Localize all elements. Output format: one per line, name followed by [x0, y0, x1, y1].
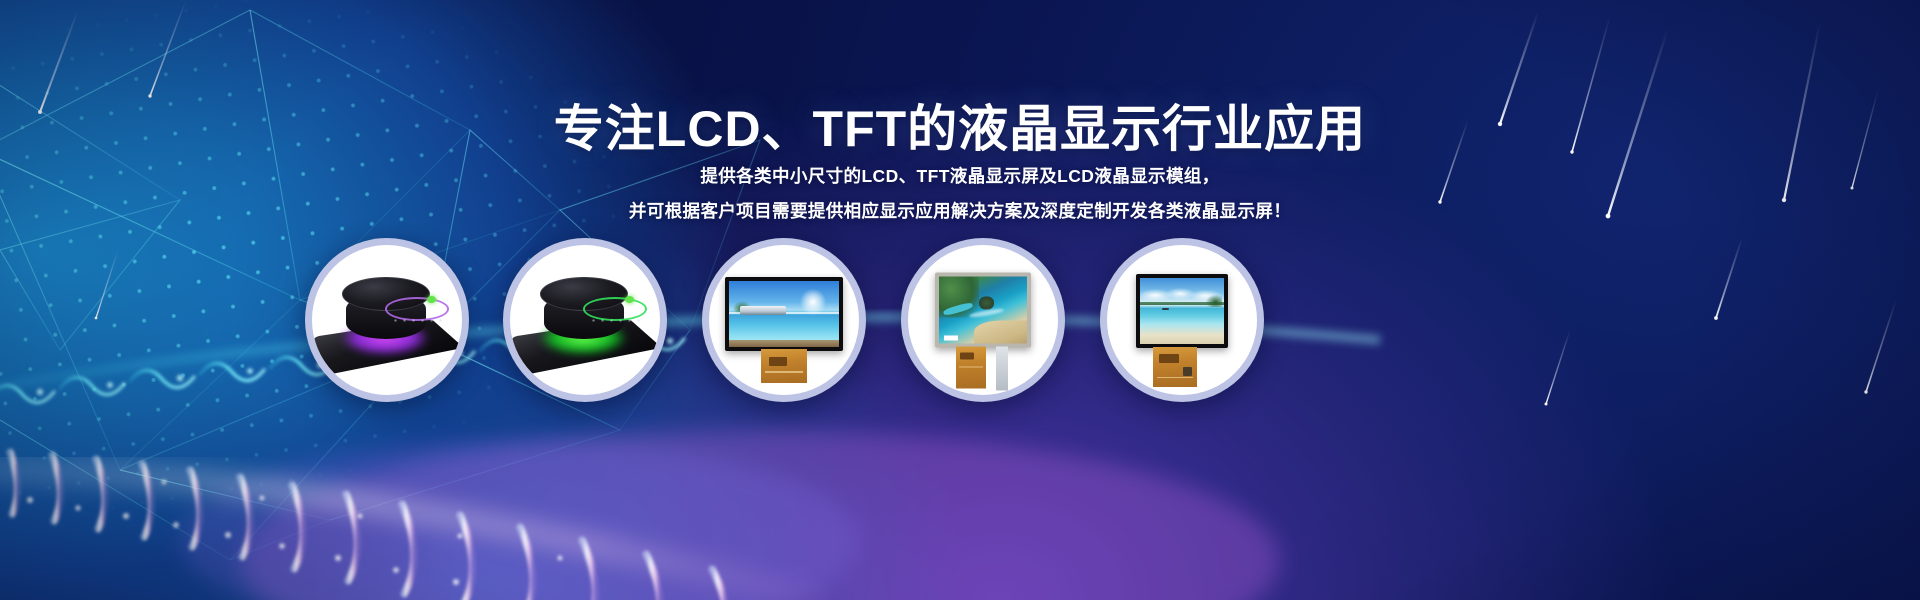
- fpc-ribbon-cable: [956, 346, 986, 388]
- sand-beach: [974, 320, 1027, 343]
- screen-image-infinity-pool: [729, 281, 839, 347]
- standard-lcd-module: [935, 272, 1031, 347]
- boat: [1162, 308, 1170, 311]
- sun-glare: [800, 289, 826, 315]
- product-circle-tft-lcd-panel-aerial-coast[interactable]: [901, 238, 1065, 402]
- product-circle-round-touch-puck-purple[interactable]: [305, 238, 469, 402]
- lcd-screen-infinity-pool: [729, 281, 839, 347]
- fpc-trace: [1157, 377, 1193, 378]
- puck-status-led: [427, 296, 436, 303]
- screen-white-patch: [944, 336, 958, 341]
- lcd-screen-beach-lagoon: [1140, 278, 1224, 344]
- puck-top-face: [342, 277, 430, 311]
- subtitle-line-2: 并可根据客户项目需要提供相应显示应用解决方案及深度定制开发各类液晶显示屏！: [0, 198, 1920, 223]
- fpc-ribbon-cable: [761, 349, 807, 383]
- fpc-driver-chip: [960, 352, 974, 359]
- page-title: 专注LCD、TFT的液晶显示行业应用: [0, 100, 1920, 158]
- lcd-bezel-metal: [935, 272, 1031, 347]
- lcd-screen-aerial-coast: [939, 276, 1027, 343]
- hero-banner: 专注LCD、TFT的液晶显示行业应用 提供各类中小尺寸的LCD、TFT液晶显示屏…: [0, 0, 1920, 600]
- fpc-touch-tail: [996, 346, 1008, 390]
- fpc-trace: [959, 366, 983, 367]
- fpc-driver-chip: [769, 357, 787, 366]
- puck-top-face: [540, 277, 628, 311]
- widescreen-lcd-module: [725, 277, 843, 351]
- lcd-bezel: [1136, 274, 1228, 348]
- fpc-connector: [1183, 367, 1192, 376]
- subtitle-line-1: 提供各类中小尺寸的LCD、TFT液晶显示屏及LCD液晶显示模组，: [0, 163, 1920, 188]
- screen-image-beach-lagoon: [1140, 278, 1224, 344]
- puck-touch-dots: [391, 318, 443, 323]
- lcd-bezel: [725, 277, 843, 351]
- product-circle-row: [0, 238, 1920, 418]
- pool-deck: [729, 340, 839, 347]
- fpc-driver-chip: [1159, 354, 1179, 363]
- round-puck-device-purple: [312, 263, 462, 383]
- product-circle-round-touch-puck-green[interactable]: [503, 238, 667, 402]
- product-circle-widescreen-tft-lcd-panel[interactable]: [702, 238, 866, 402]
- puck-touch-dots: [589, 318, 641, 323]
- screen-image-aerial-coast: [939, 276, 1027, 343]
- sea-rock: [979, 296, 993, 309]
- round-puck-device-green: [510, 263, 660, 383]
- fpc-trace: [765, 371, 803, 373]
- fpc-ribbon-cable: [1153, 347, 1197, 387]
- puck-status-led: [625, 296, 634, 303]
- villa-building: [740, 306, 786, 315]
- palm-foliage: [1206, 295, 1223, 307]
- product-circle-square-tft-lcd-panel-beach[interactable]: [1100, 238, 1264, 402]
- square-lcd-module: [1136, 274, 1228, 348]
